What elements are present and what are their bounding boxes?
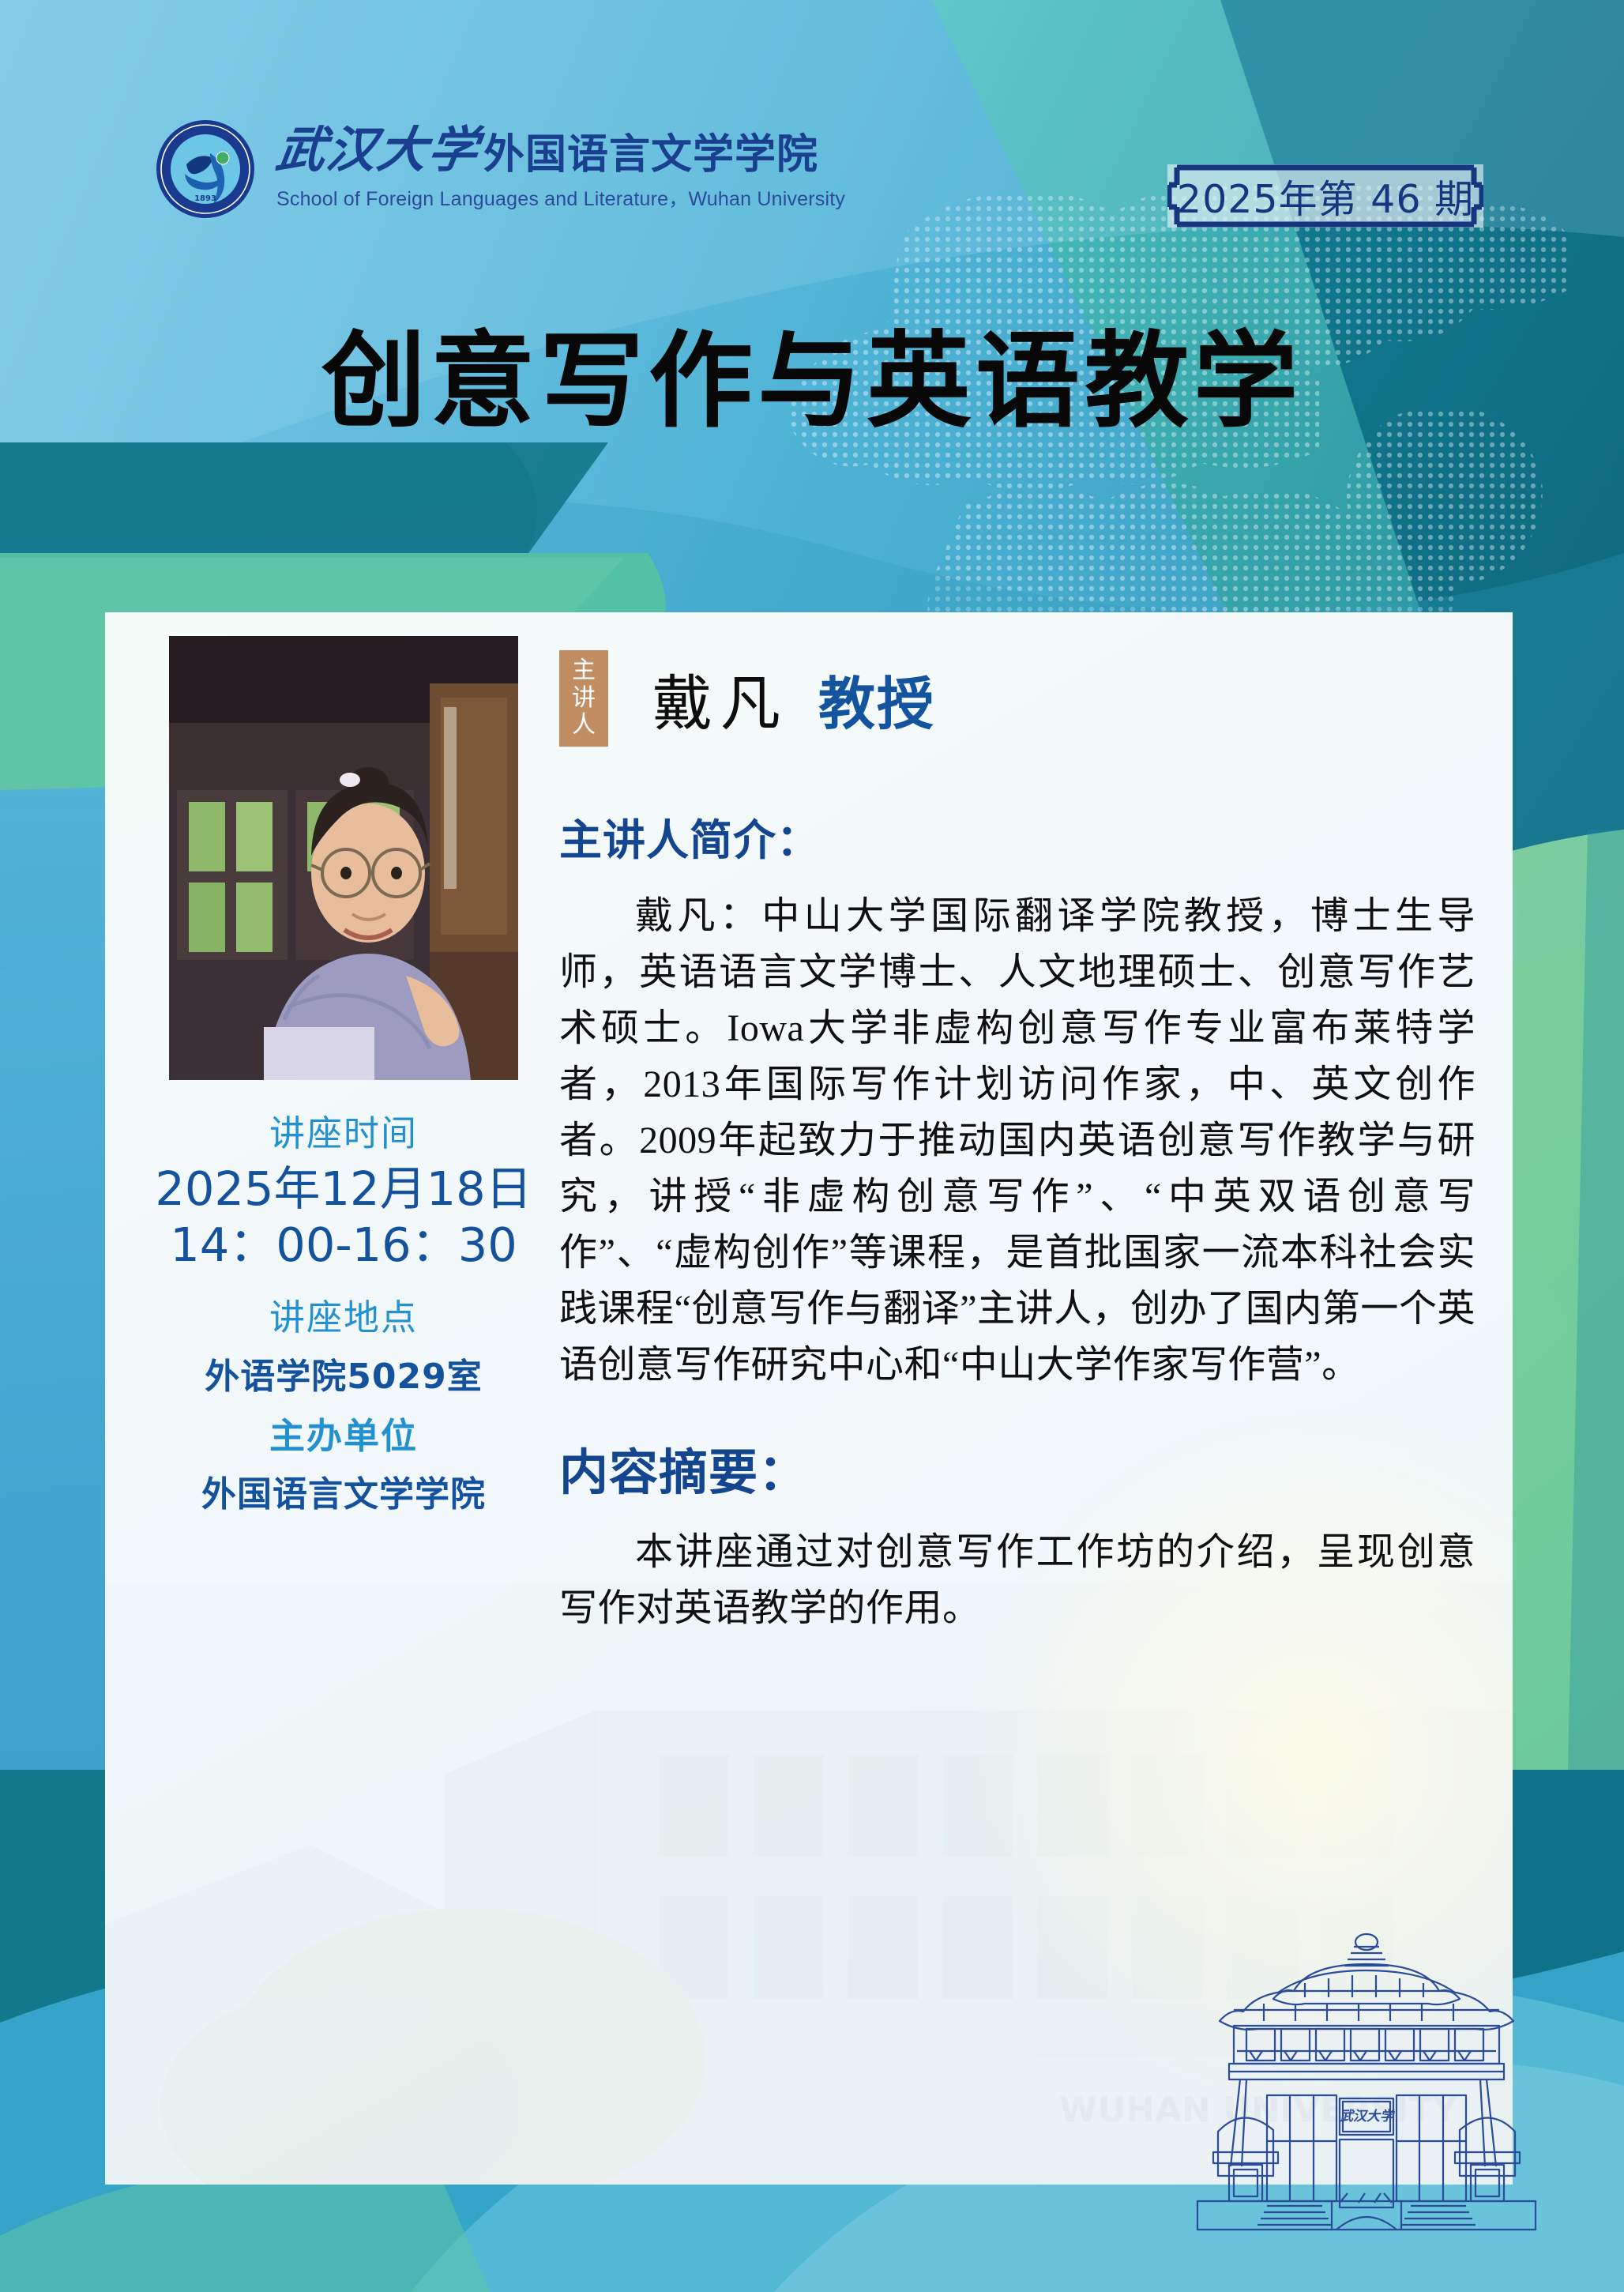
main-content-column: 主 讲 人 戴凡 教授 主讲人简介： 戴凡：中山大学国际翻译学院教授，博士生导师… <box>559 649 1476 1636</box>
speaker-portrait-image <box>169 636 518 1080</box>
speaker-badge-char-1: 主 <box>572 657 596 685</box>
logo-school-name: 外国语言文学学院 <box>483 134 818 175</box>
speaker-name: 戴凡 <box>652 655 788 742</box>
bio-heading: 主讲人简介： <box>559 805 1476 867</box>
speaker-badge-char-2: 讲 <box>572 685 596 713</box>
info-column: 讲座时间 2025年12月18日 14：00-16：30 讲座地点 外语学院50… <box>146 636 541 1516</box>
time-range: 14：00-16：30 <box>146 1217 541 1274</box>
abstract-text: 本讲座通过对创意写作工作坊的介绍，呈现创意写作对英语教学的作用。 <box>559 1524 1476 1636</box>
svg-text:1893: 1893 <box>194 194 216 203</box>
time-date: 2025年12月18日 <box>146 1161 541 1218</box>
abstract-heading: 内容摘要： <box>559 1432 1476 1504</box>
place-value: 外语学院5029室 <box>146 1356 541 1398</box>
speaker-title: 教授 <box>818 657 935 740</box>
building-plaque-text: 武汉大学 <box>1340 2109 1396 2124</box>
lecture-poster: 1893 武汉大学 外国语言文学学院 School of Foreign Lan… <box>0 0 1624 2292</box>
host-value: 外国语言文学学院 <box>146 1473 541 1516</box>
host-label: 主办单位 <box>146 1409 541 1463</box>
speaker-photo <box>169 636 518 1080</box>
issue-badge-label: 2025年第 46 期 <box>1167 164 1483 228</box>
poster-header: 1893 武汉大学 外国语言文学学院 School of Foreign Lan… <box>0 0 1624 269</box>
page-title: 创意写作与英语教学 <box>0 330 1624 435</box>
speaker-badge: 主 讲 人 <box>559 650 608 747</box>
wuhan-university-old-library-icon: 武汉大学 <box>1185 1928 1548 2236</box>
logo-english-name: School of Foreign Languages and Literatu… <box>276 183 845 212</box>
speaker-row: 主 讲 人 戴凡 教授 <box>559 649 1476 748</box>
logo-university-name: 武汉大学 <box>273 126 483 175</box>
school-logo: 1893 武汉大学 外国语言文学学院 School of Foreign Lan… <box>155 119 845 220</box>
place-label: 讲座地点 <box>146 1291 541 1345</box>
lecture-details: 讲座时间 2025年12月18日 14：00-16：30 讲座地点 外语学院50… <box>146 1107 541 1516</box>
speaker-badge-char-3: 人 <box>572 712 596 740</box>
bio-text: 戴凡：中山大学国际翻译学院教授，博士生导师，英语语言文学博士、人文地理硕士、创意… <box>559 888 1476 1393</box>
issue-badge: 2025年第 46 期 <box>1167 164 1483 228</box>
time-label: 讲座时间 <box>146 1107 541 1161</box>
school-seal-icon: 1893 <box>155 119 256 220</box>
